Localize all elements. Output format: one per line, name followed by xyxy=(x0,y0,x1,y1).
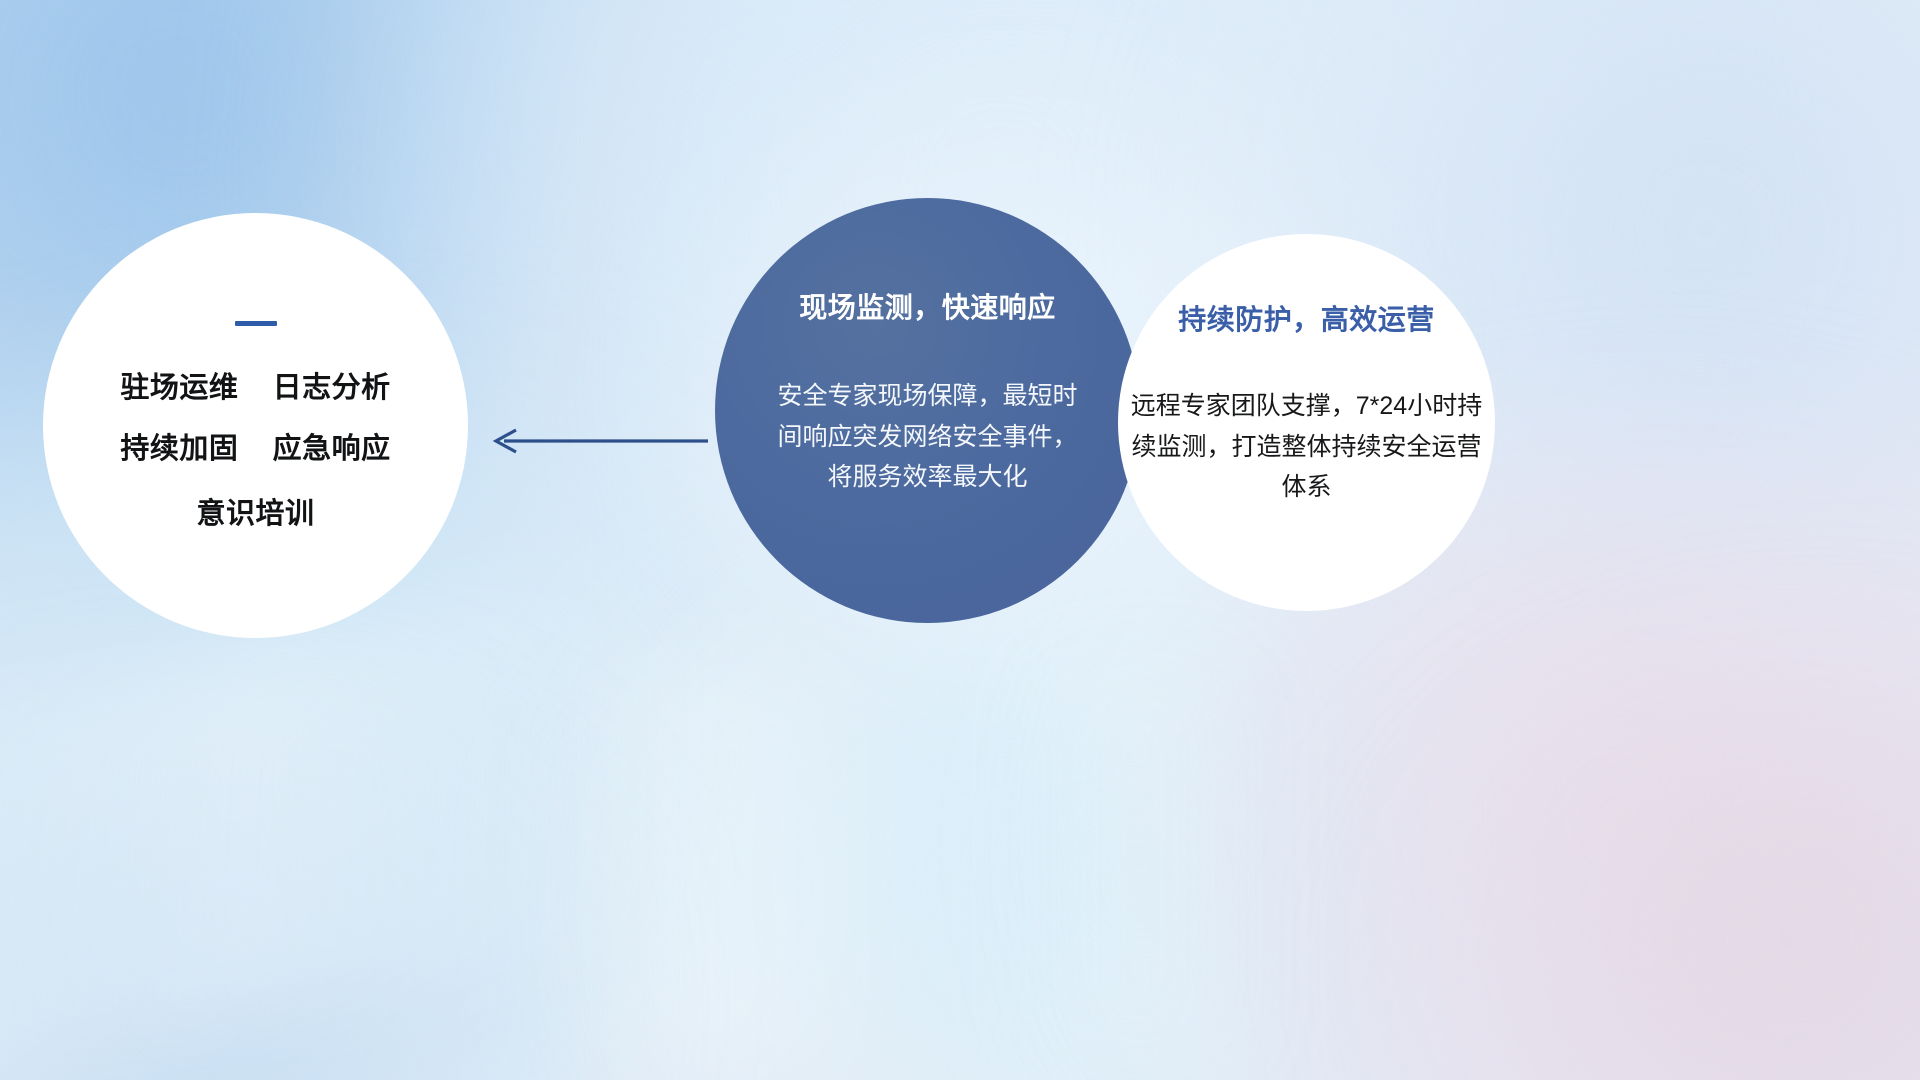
background-gradient-blob-bottom-left xyxy=(0,760,640,1080)
accent-divider xyxy=(235,321,277,326)
capability-keywords-circle[interactable]: 驻场运维 日志分析 持续加固 应急响应 意识培训 xyxy=(43,213,468,638)
onsite-monitoring-body: 安全专家现场保障，最短时间响应突发网络安全事件，将服务效率最大化 xyxy=(778,376,1078,498)
background-gradient-blob-bottom-center xyxy=(560,560,1710,1080)
keyword-line-2: 持续加固 应急响应 xyxy=(120,435,390,464)
onsite-monitoring-title: 现场监测，快速响应 xyxy=(799,286,1056,326)
background-light-band-left xyxy=(520,650,900,1080)
keyword-line-1: 驻场运维 日志分析 xyxy=(120,374,390,403)
continuous-protection-body: 远程专家团队支撑，7*24小时持续监测，打造整体持续安全运营体系 xyxy=(1131,386,1483,508)
background-light-band-right xyxy=(980,650,1300,1080)
background-gradient-blob-corner-right xyxy=(1420,700,1920,1080)
keyword-line-3: 意识培训 xyxy=(196,500,314,529)
continuous-protection-circle[interactable]: 持续防护，高效运营 远程专家团队支撑，7*24小时持续监测，打造整体持续安全运营… xyxy=(1118,234,1495,611)
onsite-monitoring-circle[interactable]: 现场监测，快速响应 安全专家现场保障，最短时间响应突发网络安全事件，将服务效率最… xyxy=(715,198,1140,623)
slide-canvas: 驻场运维 日志分析 持续加固 应急响应 意识培训 现场监测，快速响应 安全专家现… xyxy=(0,0,1920,1080)
continuous-protection-title: 持续防护，高效运营 xyxy=(1178,298,1435,338)
background-light-streak xyxy=(0,540,826,1080)
flow-arrow-icon xyxy=(490,420,710,462)
